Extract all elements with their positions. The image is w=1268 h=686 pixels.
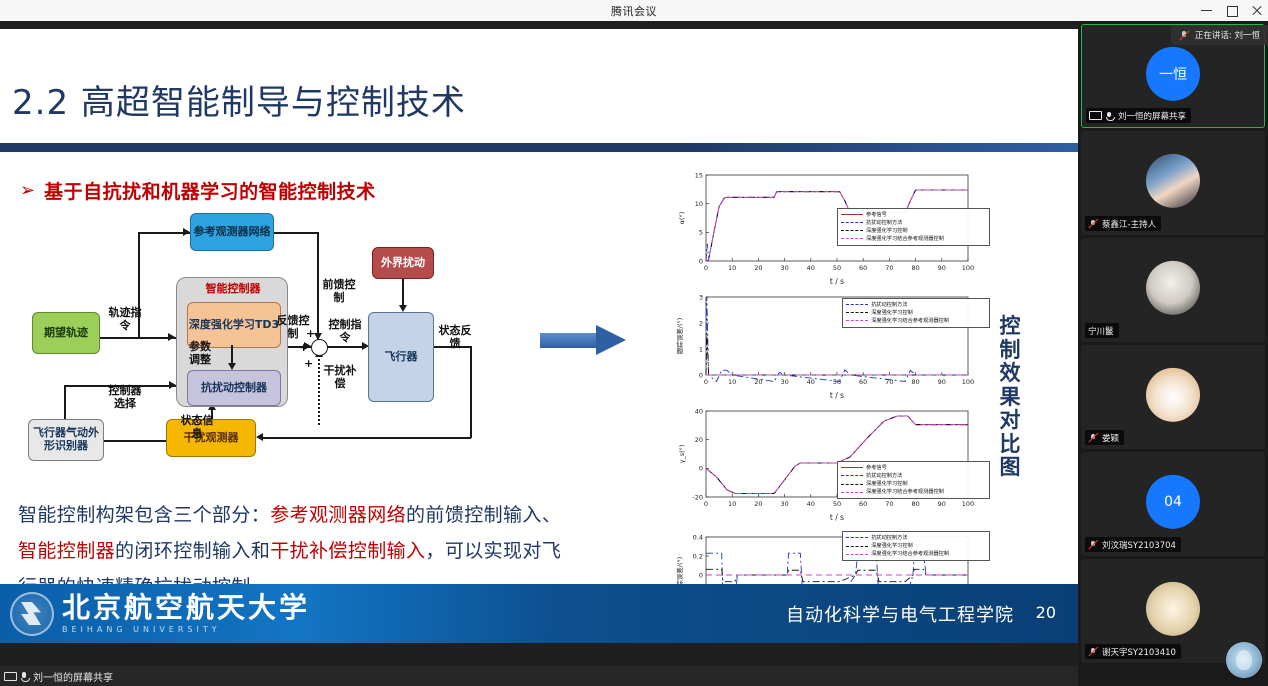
diagram-connector	[262, 437, 471, 439]
mic-off-icon	[1088, 219, 1098, 229]
legend-label: 深度强化学习结合参考观测器控制	[871, 317, 949, 325]
legend-swatch	[841, 492, 863, 493]
diagram-arrow	[256, 433, 263, 441]
para-segment-1: 智能控制构架包含三个部分：	[18, 504, 270, 526]
participant-tile[interactable]: 蔡鑫江-主持人	[1081, 131, 1265, 235]
legend-label: 抗扰动控制方法	[866, 219, 902, 227]
participant-name: 蔡鑫江-主持人	[1102, 218, 1156, 230]
svg-text:0: 0	[704, 378, 708, 386]
svg-text:90: 90	[938, 264, 946, 272]
svg-text:50: 50	[833, 264, 841, 272]
label-control-command: 控制指令	[328, 319, 362, 344]
svg-text:0: 0	[704, 264, 708, 272]
participant-name: 刘汶瑞SY2103704	[1102, 539, 1176, 551]
close-icon[interactable]	[1251, 5, 1262, 16]
legend-label: 深度强化学习控制	[866, 227, 908, 235]
legend-row: 抗扰动控制方法	[846, 301, 986, 309]
svg-text:0.2: 0.2	[693, 552, 703, 560]
legend-label: 深度强化学习结合参考观测器控制	[871, 550, 949, 558]
chart-legend: 参考信号抗扰动控制方法深度强化学习控制深度强化学习结合参考观测器控制	[837, 461, 990, 499]
participant-nameplate: 刘汶瑞SY2103704	[1085, 537, 1181, 552]
legend-row: 深度强化学习结合参考观测器控制	[846, 317, 986, 325]
svg-text:0: 0	[704, 500, 708, 508]
svg-text:60: 60	[859, 378, 867, 386]
shared-screen-stage[interactable]: 2.2 高超智能制导与控制技术 ➢ 基于自抗扰和机器学习的智能控制技术	[0, 21, 1078, 666]
mic-on-icon	[1104, 111, 1114, 121]
university-name-cn: 北京航空航天大学	[62, 594, 310, 622]
svg-text:100: 100	[962, 264, 974, 272]
university-logo: 北京航空航天大学 BEIHANG UNIVERSITY	[10, 592, 310, 636]
legend-label: 深度强化学习结合参考观测器控制	[866, 235, 944, 243]
svg-text:10: 10	[728, 500, 736, 508]
svg-text:100: 100	[962, 500, 974, 508]
svg-text:40: 40	[807, 378, 815, 386]
avatar	[1146, 582, 1200, 636]
diagram-arrow	[399, 305, 407, 312]
screen-share-icon	[4, 671, 15, 681]
participant-nameplate: 宁川鬣	[1085, 323, 1119, 338]
participant-nameplate: 谢天宇SY2103410	[1085, 644, 1181, 659]
diagram-arrow	[183, 228, 190, 236]
svg-text:-20: -20	[692, 493, 703, 501]
participant-nameplate: 刘一恒的屏幕共享	[1086, 108, 1191, 123]
svg-text:3: 3	[699, 293, 703, 301]
svg-text:15: 15	[695, 171, 703, 179]
diagram-dotted-connector	[318, 355, 320, 425]
svg-text:5: 5	[699, 229, 703, 237]
label-plus-sign: +	[304, 357, 313, 370]
svg-text:0: 0	[699, 571, 703, 579]
participant-name: 刘一恒的屏幕共享	[1118, 110, 1186, 122]
speaking-label: 正在讲话: 刘一恒	[1195, 29, 1260, 41]
transition-arrow-icon	[540, 325, 626, 355]
legend-row: 参考信号	[841, 211, 986, 219]
svg-text:20: 20	[754, 500, 762, 508]
avatar	[1146, 368, 1200, 422]
self-view-thumbnail[interactable]	[1226, 642, 1262, 678]
participant-name: 宁川鬣	[1088, 325, 1114, 337]
svg-text:40: 40	[807, 500, 815, 508]
legend-swatch	[846, 320, 868, 321]
chart-alpha: 0102030405060708090100051015t / sα(°)参考信…	[676, 169, 976, 287]
label-state-feedback: 状态反馈	[438, 325, 472, 350]
mic-icon	[19, 671, 29, 681]
university-name-en: BEIHANG UNIVERSITY	[62, 625, 310, 634]
diagram-connector	[317, 232, 319, 339]
title-divider	[0, 143, 1078, 152]
box-reference-observer: 参考观测器网络	[190, 213, 274, 251]
label-state-info: 状态信息	[180, 415, 214, 440]
svg-text:0: 0	[699, 465, 703, 473]
legend-label: 参考信号	[866, 464, 887, 472]
legend-swatch	[841, 222, 863, 223]
chart-ylabel: α(°)	[678, 212, 686, 225]
legend-row: 参考信号	[841, 464, 986, 472]
svg-text:0: 0	[699, 371, 703, 379]
participant-tile[interactable]: 宁川鬣	[1081, 238, 1265, 342]
participant-name: 娄颖	[1102, 432, 1119, 444]
intelligent-controller-label: 智能控制器	[177, 283, 289, 296]
chart-alpha-error: 01020304050607080901000123t / s跟踪误差/(°)抗…	[676, 291, 976, 401]
summation-node	[311, 339, 328, 356]
chart-legend: 参考信号抗扰动控制方法深度强化学习控制深度强化学习结合参考观测器控制	[837, 208, 990, 246]
svg-text:1: 1	[699, 345, 703, 353]
svg-text:90: 90	[938, 378, 946, 386]
label-disturbance-compensation: 干扰补偿	[323, 365, 357, 390]
legend-swatch	[846, 537, 868, 538]
box-external-disturbance: 外界扰动	[372, 247, 434, 279]
para-segment-2: 的前馈控制输入、	[406, 504, 561, 526]
charts-caption: 控制效果对比图	[996, 315, 1024, 480]
svg-text:10: 10	[728, 264, 736, 272]
chart-legend: 抗扰动控制方法深度强化学习控制深度强化学习结合参考观测器控制	[842, 298, 990, 328]
svg-text:10: 10	[695, 200, 703, 208]
minimize-icon[interactable]	[1201, 5, 1212, 16]
svg-text:80: 80	[911, 500, 919, 508]
legend-row: 深度强化学习结合参考观测器控制	[846, 550, 986, 558]
svg-text:20: 20	[695, 436, 703, 444]
svg-text:0: 0	[699, 257, 703, 265]
legend-swatch	[846, 312, 868, 313]
label-param-adjust: 参数调整	[184, 341, 216, 366]
maximize-icon[interactable]	[1226, 5, 1237, 16]
mic-off-icon	[1088, 540, 1098, 550]
legend-row: 深度强化学习控制	[846, 309, 986, 317]
svg-text:100: 100	[962, 378, 974, 386]
presentation-slide: 2.2 高超智能制导与控制技术 ➢ 基于自抗扰和机器学习的智能控制技术	[0, 29, 1078, 643]
participant-tiles: 一恒刘一恒的屏幕共享蔡鑫江-主持人宁川鬣娄颖04刘汶瑞SY2103704谢天宇S…	[1078, 24, 1268, 663]
window-titlebar: 腾讯会议	[0, 0, 1268, 21]
participant-nameplate: 娄颖	[1085, 430, 1124, 445]
svg-text:30: 30	[780, 264, 788, 272]
svg-text:30: 30	[780, 378, 788, 386]
diagram-connector	[326, 346, 366, 348]
box-vehicle: 飞行器	[368, 312, 434, 402]
label-controller-select: 控制器选择	[108, 385, 142, 410]
avatar: 一恒	[1146, 47, 1200, 101]
legend-label: 参考信号	[866, 211, 887, 219]
legend-swatch	[841, 484, 863, 485]
department-name: 自动化科学与电气工程学院	[786, 601, 1014, 627]
box-shape-recognizer: 飞行器气动外形识别器	[28, 419, 104, 461]
svg-text:0.4: 0.4	[693, 533, 703, 541]
legend-row: 深度强化学习控制	[846, 542, 986, 550]
svg-text:40: 40	[695, 407, 703, 415]
participant-name: 谢天宇SY2103410	[1102, 646, 1176, 658]
chart-ylabel: 跟踪误差/(°)	[676, 318, 684, 355]
svg-text:40: 40	[807, 264, 815, 272]
slide-title: 2.2 高超智能制导与控制技术	[12, 75, 466, 124]
svg-text:80: 80	[911, 264, 919, 272]
legend-label: 深度强化学习控制	[871, 542, 913, 550]
tencent-meeting-window: 腾讯会议 2.2 高超智能制导与控制技术 ➢ 基于自抗扰和机器学习的智能控制技术	[0, 0, 1268, 686]
legend-swatch	[841, 238, 863, 239]
legend-row: 抗扰动控制方法	[841, 219, 986, 227]
seal-icon	[10, 592, 54, 636]
chart-ylabel: γ_s(°)	[678, 445, 686, 464]
chart-xlabel: t / s	[830, 391, 844, 400]
legend-swatch	[841, 467, 863, 468]
legend-swatch	[841, 230, 863, 231]
legend-row: 深度强化学习结合参考观测器控制	[841, 235, 986, 243]
slide-footer: 北京航空航天大学 BEIHANG UNIVERSITY 自动化科学与电气工程学院…	[0, 584, 1078, 643]
svg-text:2: 2	[699, 319, 703, 327]
diagram-arrow	[169, 381, 176, 389]
speaking-indicator: 正在讲话: 刘一恒	[1171, 25, 1268, 45]
diagram-arrow	[168, 333, 175, 341]
page-number: 20	[1036, 603, 1056, 622]
bullet-label: 基于自抗扰和机器学习的智能控制技术	[44, 177, 376, 204]
legend-row: 深度强化学习控制	[841, 480, 986, 488]
legend-row: 深度强化学习结合参考观测器控制	[841, 488, 986, 496]
svg-text:50: 50	[833, 500, 841, 508]
chart-xlabel: t / s	[830, 513, 844, 522]
avatar	[1146, 154, 1200, 208]
bullet-item: ➢ 基于自抗扰和机器学习的智能控制技术	[20, 177, 376, 204]
label-feedforward-control: 前馈控制	[322, 279, 356, 304]
legend-row: 抗扰动控制方法	[841, 472, 986, 480]
para-highlight-3: 干扰补偿控制输入	[270, 540, 425, 562]
window-controls	[1201, 0, 1262, 21]
legend-swatch	[841, 475, 863, 476]
box-desired-trajectory: 期望轨迹	[32, 312, 100, 354]
diagram-arrow	[228, 363, 236, 370]
legend-label: 深度强化学习控制	[871, 309, 913, 317]
label-trajectory-command: 轨迹指令	[108, 307, 142, 332]
svg-text:50: 50	[833, 378, 841, 386]
legend-swatch	[846, 554, 868, 555]
diagram-connector	[64, 385, 66, 419]
legend-swatch	[846, 304, 868, 305]
para-highlight-1: 参考观测器网络	[270, 504, 406, 526]
svg-text:30: 30	[780, 500, 788, 508]
diagram-connector	[104, 440, 166, 442]
legend-label: 抗扰动控制方法	[871, 534, 907, 542]
legend-swatch	[841, 214, 863, 215]
simulation-charts: 0102030405060708090100051015t / sα(°)参考信…	[676, 169, 976, 639]
bullet-arrow-icon: ➢	[20, 182, 35, 200]
label-plus-sign: +	[306, 327, 315, 340]
svg-text:10: 10	[728, 378, 736, 386]
participant-nameplate: 蔡鑫江-主持人	[1085, 216, 1161, 231]
chart-xlabel: t / s	[830, 277, 844, 286]
svg-text:90: 90	[938, 500, 946, 508]
diagram-connector	[100, 337, 140, 339]
mic-off-icon	[1088, 433, 1098, 443]
mic-off-icon	[1179, 30, 1189, 40]
legend-label: 抗扰动控制方法	[866, 472, 902, 480]
avatar: 04	[1146, 475, 1200, 529]
para-segment-3: 的闭环控制输入和	[115, 540, 270, 562]
screen-share-statusbar: 刘一恒的屏幕共享	[0, 666, 1078, 686]
legend-swatch	[846, 546, 868, 547]
control-architecture-diagram: 参考观测器网络 智能控制器 深度强化学习TD3 抗扰动控制器 期望轨迹 飞行器气…	[18, 207, 538, 482]
label-plus-sign: +	[299, 341, 308, 354]
svg-text:20: 20	[754, 264, 762, 272]
diagram-connector	[470, 346, 472, 438]
legend-label: 抗扰动控制方法	[871, 301, 907, 309]
para-highlight-2: 智能控制器	[18, 540, 115, 562]
box-adrc: 抗扰动控制器	[187, 370, 281, 406]
label-feedback-control: 反馈控制	[276, 315, 310, 340]
svg-text:80: 80	[911, 378, 919, 386]
legend-row: 深度强化学习控制	[841, 227, 986, 235]
mic-off-icon	[1088, 647, 1098, 657]
svg-text:70: 70	[885, 500, 893, 508]
diagram-connector	[274, 232, 318, 234]
participant-tile[interactable]: 04刘汶瑞SY2103704	[1081, 452, 1265, 556]
participants-sidebar[interactable]: 正在讲话: 刘一恒 一恒刘一恒的屏幕共享蔡鑫江-主持人宁川鬣娄颖04刘汶瑞SY2…	[1078, 21, 1268, 686]
legend-label: 深度强化学习结合参考观测器控制	[866, 488, 944, 496]
legend-label: 深度强化学习控制	[866, 480, 908, 488]
participant-tile[interactable]: 娄颖	[1081, 345, 1265, 449]
svg-text:70: 70	[885, 264, 893, 272]
svg-text:60: 60	[859, 264, 867, 272]
window-title: 腾讯会议	[611, 3, 657, 19]
chart-legend: 抗扰动控制方法深度强化学习控制深度强化学习结合参考观测器控制	[842, 531, 990, 561]
avatar	[1146, 261, 1200, 315]
svg-text:60: 60	[859, 500, 867, 508]
legend-row: 抗扰动控制方法	[846, 534, 986, 542]
share-status-label: 刘一恒的屏幕共享	[33, 669, 113, 684]
screen-share-icon	[1089, 111, 1100, 121]
chart-gamma: 0102030405060708090100-2002040t / sγ_s(°…	[676, 405, 976, 523]
